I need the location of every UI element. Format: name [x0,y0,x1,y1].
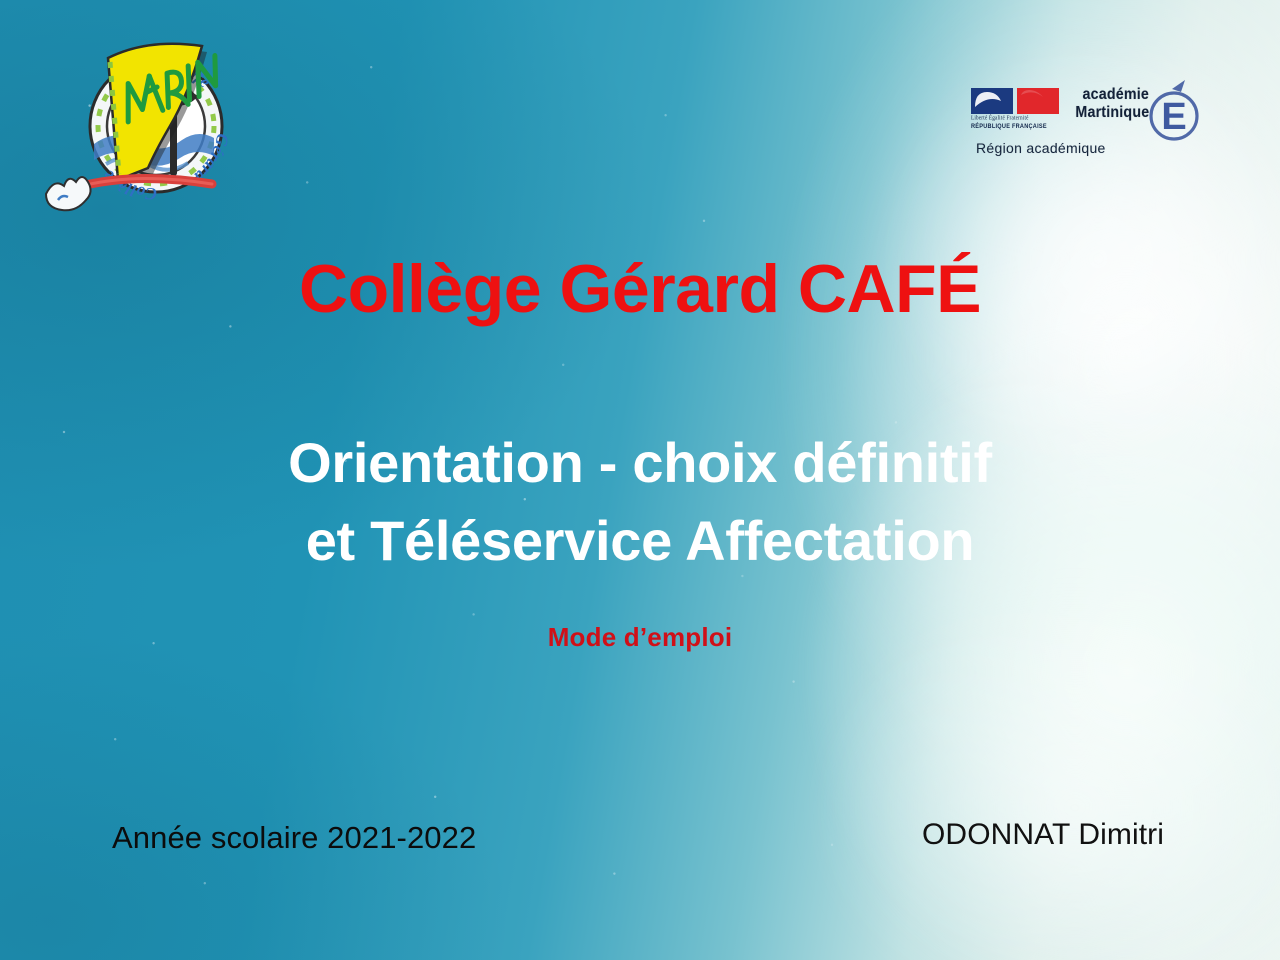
academy-name-line2: Martinique [1075,104,1149,122]
republic-motto: Liberté Égalité Fraternité [971,115,1067,122]
svg-text:E: E [1161,96,1186,138]
author-name: ODONNAT Dimitri [922,818,1164,852]
academy-logo-block: Liberté Égalité Fraternité RÉPUBLIQUE FR… [963,80,1193,170]
republique-francaise-logo: Liberté Égalité Fraternité RÉPUBLIQUE FR… [971,88,1067,136]
academy-name: académie Martinique [1075,86,1149,122]
slide-subtitle: Orientation - choix définitif et Téléser… [0,424,1280,580]
academy-name-line1: académie [1075,86,1149,104]
academy-emblem-icon: E [1145,80,1203,142]
republic-name: RÉPUBLIQUE FRANÇAISE [971,123,1067,130]
school-year-label: Année scolaire 2021-2022 [112,820,476,856]
presentation-slide: Café Gérard Collège [0,0,1280,960]
slide-subtitle-line1: Orientation - choix définitif [288,431,992,494]
french-flag-icon [971,88,1059,114]
slide-title: Collège Gérard CAFÉ [0,251,1280,327]
mode-emploi-label: Mode d’emploi [0,622,1280,653]
school-logo: Café Gérard Collège [22,14,257,229]
region-academique-label: Région académique [976,140,1106,156]
slide-subtitle-line2: et Téléservice Affectation [0,502,1280,580]
